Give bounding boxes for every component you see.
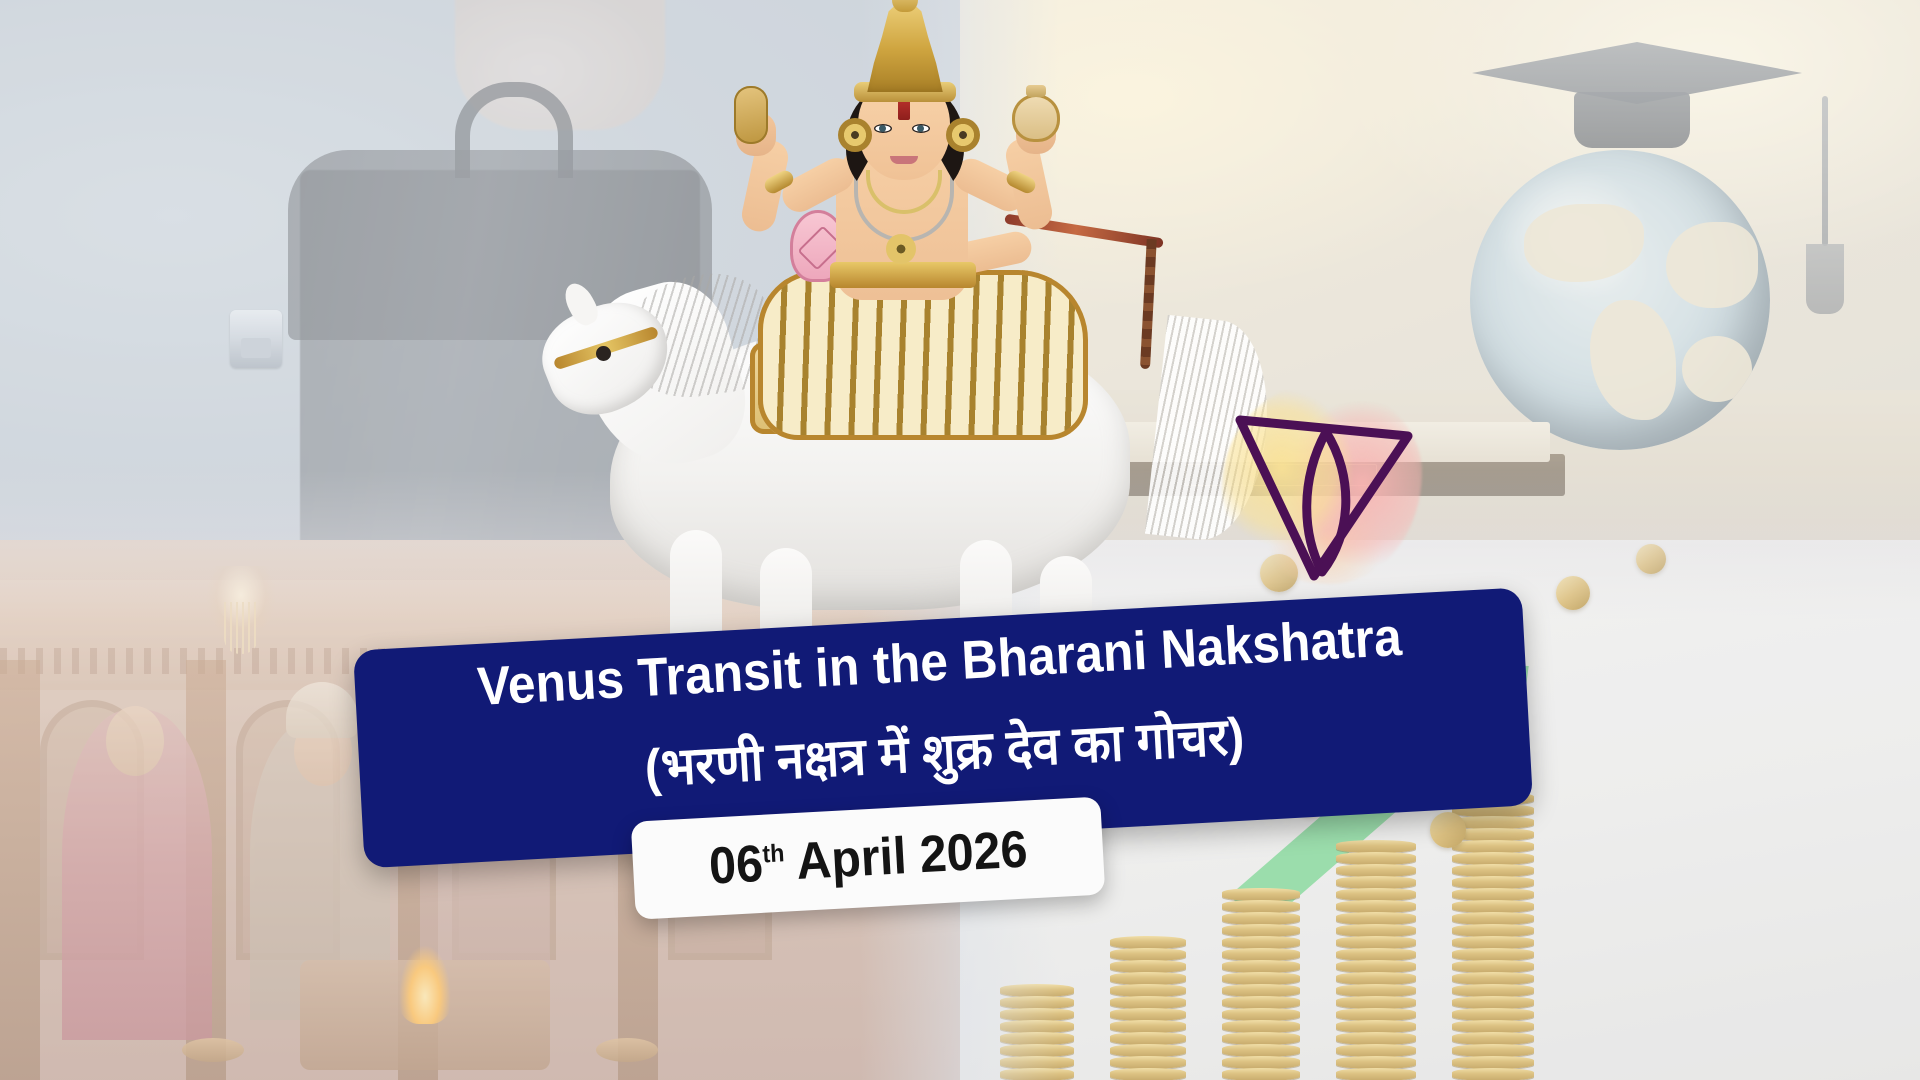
- crown-icon: [864, 0, 946, 92]
- date-day: 06: [707, 835, 764, 896]
- deity-eye: [912, 124, 930, 133]
- brand-logo[interactable]: [1222, 384, 1422, 584]
- shukra-dev-illustration: [640, 0, 1200, 650]
- horse-eye: [596, 346, 611, 361]
- date-text: 06th April 2026: [707, 820, 1028, 897]
- date-ordinal: th: [761, 839, 784, 868]
- earring: [946, 118, 980, 152]
- club-icon: [734, 86, 768, 144]
- kamandal-pot-icon: [1012, 94, 1060, 142]
- deity-belt: [830, 262, 976, 288]
- date-month-year: April 2026: [783, 821, 1029, 892]
- necklace-pendant: [886, 234, 916, 264]
- deity-mouth: [890, 156, 918, 164]
- deity-eye: [874, 124, 892, 133]
- poster-canvas: Venus Transit in the Bharani Nakshatra (…: [0, 0, 1920, 1080]
- earring: [838, 118, 872, 152]
- triangle-leaf-logo-icon: [1222, 384, 1422, 584]
